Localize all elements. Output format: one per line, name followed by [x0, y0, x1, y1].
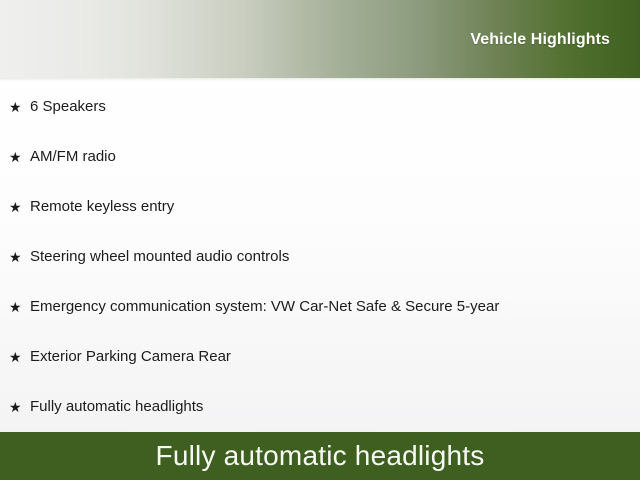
list-item-label: 6 Speakers	[30, 98, 640, 116]
list-item-label: Remote keyless entry	[30, 198, 640, 216]
list-item: ★ Fully automatic headlights	[0, 382, 640, 432]
footer-caption-text: Fully automatic headlights	[156, 442, 485, 470]
star-icon: ★	[9, 150, 30, 164]
list-item: ★ Emergency communication system: VW Car…	[0, 282, 640, 332]
star-icon: ★	[9, 250, 30, 264]
list-item-label: Fully automatic headlights	[30, 398, 640, 416]
star-icon: ★	[9, 100, 30, 114]
footer-caption-bar: Fully automatic headlights	[0, 432, 640, 480]
star-icon: ★	[9, 300, 30, 314]
list-item-label: Steering wheel mounted audio controls	[30, 248, 640, 266]
list-item: ★ Remote keyless entry	[0, 182, 640, 232]
header-banner: Vehicle Highlights	[0, 0, 640, 78]
header-divider	[0, 78, 640, 81]
star-icon: ★	[9, 400, 30, 414]
list-item-label: Exterior Parking Camera Rear	[30, 348, 640, 366]
list-item-label: AM/FM radio	[30, 148, 640, 166]
star-icon: ★	[9, 200, 30, 214]
list-item: ★ Exterior Parking Camera Rear	[0, 332, 640, 382]
list-item: ★ Steering wheel mounted audio controls	[0, 232, 640, 282]
list-item: ★ 6 Speakers	[0, 82, 640, 132]
list-item-label: Emergency communication system: VW Car-N…	[30, 298, 640, 316]
page-title: Vehicle Highlights	[470, 31, 610, 49]
star-icon: ★	[9, 350, 30, 364]
list-item: ★ AM/FM radio	[0, 132, 640, 182]
highlights-list: ★ 6 Speakers ★ AM/FM radio ★ Remote keyl…	[0, 82, 640, 432]
vehicle-highlights-slide: Vehicle Highlights ★ 6 Speakers ★ AM/FM …	[0, 0, 640, 480]
